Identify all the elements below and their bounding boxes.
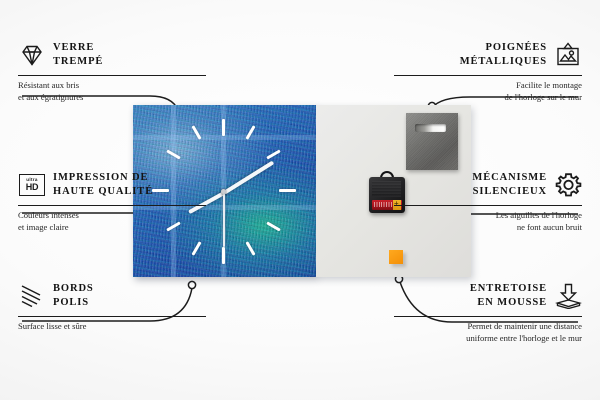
clock-tick bbox=[222, 247, 225, 264]
feature-description: Facilite le montage de l'horloge sur le … bbox=[394, 80, 582, 103]
feature-title: Impression de haute qualité bbox=[53, 171, 153, 198]
ultra-hd-icon: ultra HD bbox=[18, 171, 46, 199]
feature-title: Bords polis bbox=[53, 282, 94, 309]
infographic-canvas: Verre trempé Résistant aux bris et aux é… bbox=[0, 0, 600, 400]
feature-title: Entretoise en mousse bbox=[470, 282, 547, 309]
diamond-icon bbox=[18, 41, 46, 69]
clock-tick bbox=[222, 119, 225, 136]
feature-entretoise-en-mousse: Entretoise en mousse Permet de maintenir… bbox=[394, 279, 582, 344]
foam-spacer bbox=[389, 250, 403, 264]
feature-divider bbox=[18, 316, 206, 317]
feature-title: Poignées métalliques bbox=[460, 41, 547, 68]
battery-label bbox=[374, 202, 393, 207]
feature-impression-haute-qualite: ultra HD Impression de haute qualité Cou… bbox=[18, 168, 206, 233]
feature-divider bbox=[18, 205, 206, 206]
clock-center-cap bbox=[221, 189, 226, 194]
feature-description: Surface lisse et sûre bbox=[18, 321, 206, 333]
feature-verre-trempe: Verre trempé Résistant aux bris et aux é… bbox=[18, 38, 206, 103]
feature-description: Couleurs intenses et image claire bbox=[18, 210, 206, 233]
feature-divider bbox=[394, 316, 582, 317]
feature-title: Verre trempé bbox=[53, 41, 103, 68]
clock-second-hand bbox=[223, 193, 225, 247]
feature-divider bbox=[394, 75, 582, 76]
feature-description: Les aiguilles de l'horloge ne font aucun… bbox=[394, 210, 582, 233]
hanger-slot bbox=[415, 124, 446, 132]
feature-title: Mécanisme silencieux bbox=[472, 171, 547, 198]
ultra-hd-icon-main-label: HD bbox=[26, 183, 39, 192]
gear-icon bbox=[554, 171, 582, 199]
feature-divider bbox=[18, 75, 206, 76]
hanging-frame-icon bbox=[554, 41, 582, 69]
feature-description: Permet de maintenir une distance uniform… bbox=[394, 321, 582, 344]
feature-description: Résistant aux bris et aux égratignures bbox=[18, 80, 206, 103]
metal-hanger-plate bbox=[406, 113, 458, 170]
feature-poignees-metalliques: Poignées métalliques Facilite le montage… bbox=[394, 38, 582, 103]
polished-edges-icon bbox=[18, 282, 46, 310]
press-down-layers-icon bbox=[554, 282, 582, 310]
feature-divider bbox=[394, 205, 582, 206]
feature-mecanisme-silencieux: Mécanisme silencieux Les aiguilles de l'… bbox=[394, 168, 582, 233]
feature-bords-polis: Bords polis Surface lisse et sûre bbox=[18, 279, 206, 333]
clock-tick bbox=[279, 189, 296, 192]
